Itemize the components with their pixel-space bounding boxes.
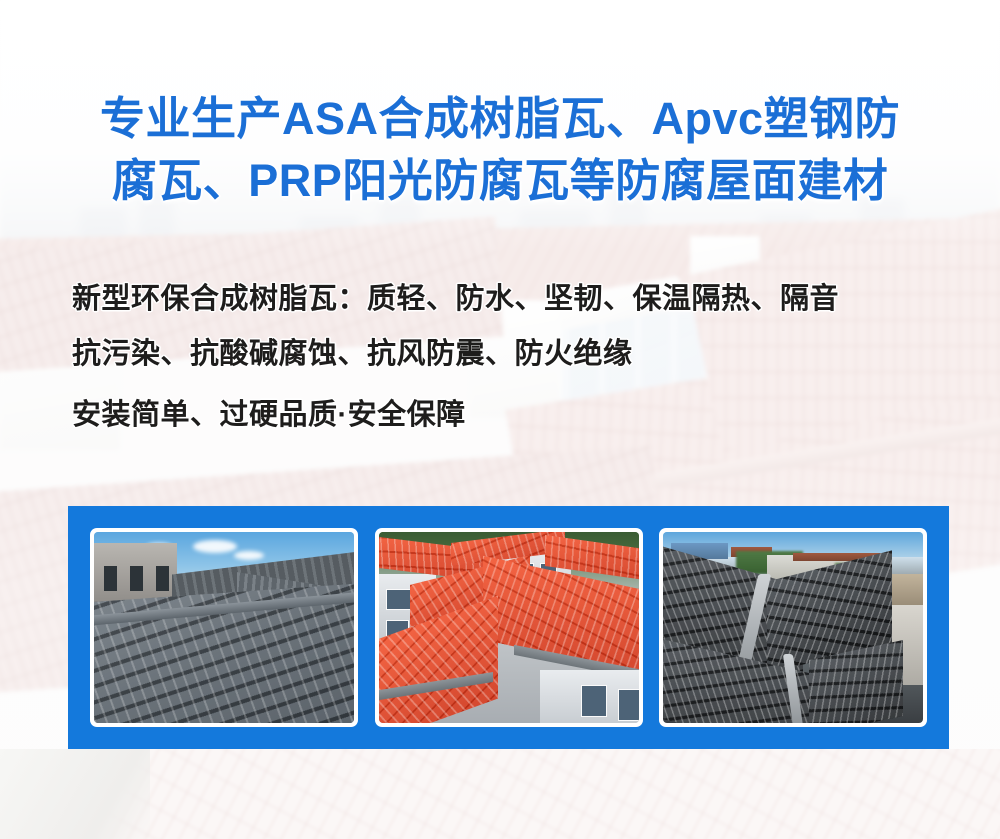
bottom-background-strip [0,749,1000,839]
bottom-white-overlay [0,749,1000,839]
black-resin-tile-roof-photo[interactable] [659,528,927,727]
subtitle-line-2: 抗污染、抗酸碱腐蚀、抗风防震、防火绝缘 [72,327,952,382]
subtitle-line-3: 安装简单、过硬品质·安全保障 [72,388,952,443]
headline-line-1: 专业生产ASA合成树脂瓦、Apvc塑钢防 [0,88,1000,150]
grey-resin-tile-roof-photo[interactable] [90,528,358,727]
subtitle-line-1: 新型环保合成树脂瓦：质轻、防水、坚韧、保温隔热、隔音 [72,272,952,327]
bottom-left-wall [0,749,150,839]
red-resin-tile-roof-photo[interactable] [375,528,643,727]
subtitle-block: 新型环保合成树脂瓦：质轻、防水、坚韧、保温隔热、隔音 抗污染、抗酸碱腐蚀、抗风防… [72,272,952,443]
photo-gallery-panel [68,506,949,749]
product-banner: 专业生产ASA合成树脂瓦、Apvc塑钢防 腐瓦、PRP阳光防腐瓦等防腐屋面建材 … [0,0,1000,839]
page-title: 专业生产ASA合成树脂瓦、Apvc塑钢防 腐瓦、PRP阳光防腐瓦等防腐屋面建材 [0,88,1000,212]
headline-line-2: 腐瓦、PRP阳光防腐瓦等防腐屋面建材 [0,150,1000,212]
